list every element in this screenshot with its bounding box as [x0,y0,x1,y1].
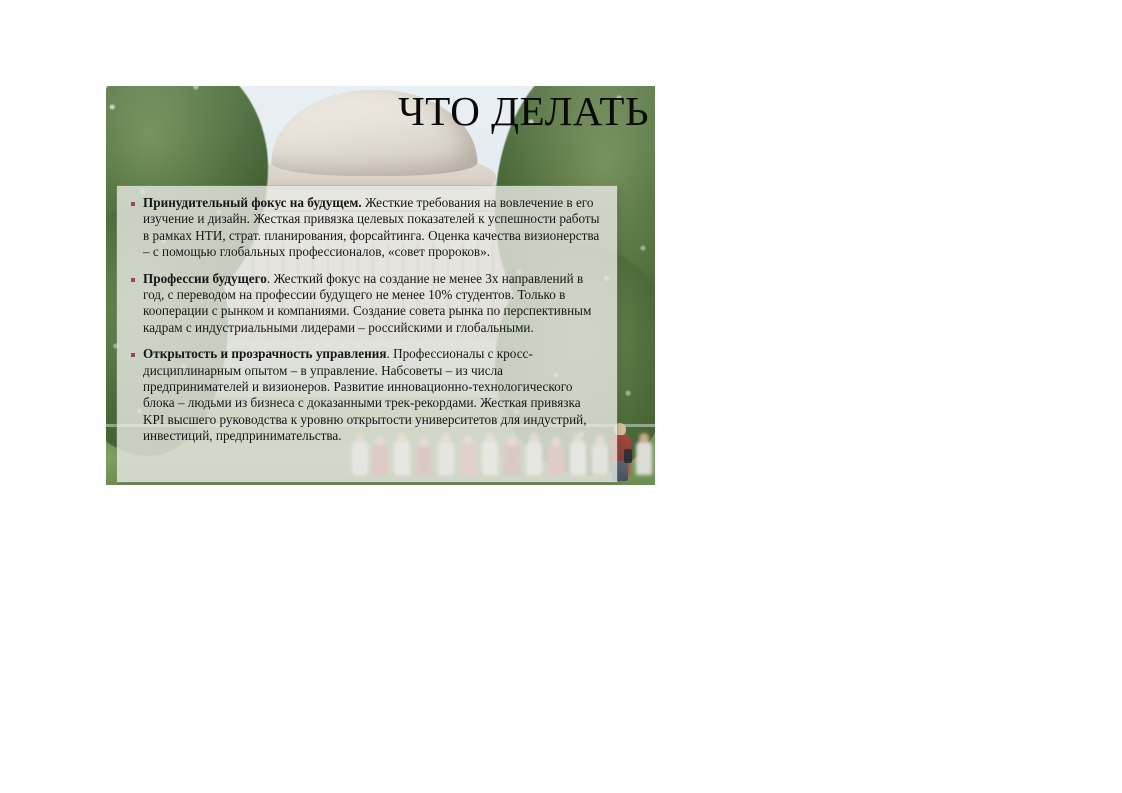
content-panel: Принудительный фокус на будущем. Жесткие… [117,186,617,482]
bullet-text: Принудительный фокус на будущем. Жесткие… [143,195,605,261]
square-bullet-icon [131,353,135,357]
bullet-item: Профессии будущего. Жесткий фокус на соз… [127,271,605,337]
bullet-lead: Открытость и прозрачность управления [143,346,386,361]
slide-title: ЧТО ДЕЛАТЬ [398,88,649,134]
bullet-item: Принудительный фокус на будущем. Жесткие… [127,195,605,261]
square-bullet-icon [131,202,135,206]
bullet-lead: Профессии будущего [143,271,267,286]
bullet-text: Профессии будущего. Жесткий фокус на соз… [143,271,605,337]
square-bullet-icon [131,278,135,282]
bullet-item: Открытость и прозрачность управления. Пр… [127,346,605,444]
bullet-text: Открытость и прозрачность управления. Пр… [143,346,605,444]
presentation-slide: ЧТО ДЕЛАТЬ Принудительный фокус на будущ… [106,86,655,485]
bullet-lead: Принудительный фокус на будущем. [143,195,362,210]
